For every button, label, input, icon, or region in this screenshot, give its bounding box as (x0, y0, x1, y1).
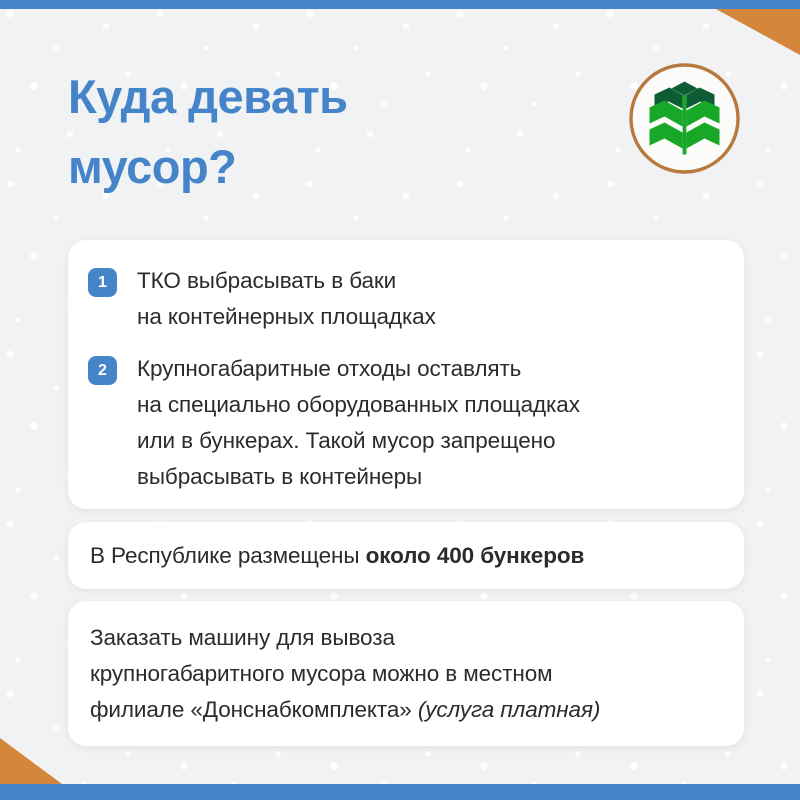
list-item: 2 Крупногабаритные отходы оставлять на с… (88, 351, 580, 495)
fact-card: В Республике размещены около 400 бункеро… (68, 522, 744, 589)
step-text: Крупногабаритные отходы оставлять на спе… (137, 351, 580, 495)
infographic-poster: Куда девать мусор? 1 ТКО выбрасывать в (0, 0, 800, 800)
wheat-leaf-emblem-icon (627, 61, 742, 176)
step-text: ТКО выбрасывать в баки на контейнерных п… (137, 263, 436, 335)
order-card: Заказать машину для вывоза крупногабарит… (68, 601, 744, 746)
fact-highlight-text: около 400 бункеров (366, 543, 585, 568)
top-right-orange-triangle (716, 9, 800, 55)
page-title: Куда девать мусор? (68, 62, 588, 202)
top-blue-bar (0, 0, 800, 9)
fact-text: В Республике размещены около 400 бункеро… (90, 540, 584, 572)
step-number-badge: 1 (88, 268, 117, 297)
step-number-badge: 2 (88, 356, 117, 385)
bottom-blue-bar (0, 784, 800, 800)
list-item: 1 ТКО выбрасывать в баки на контейнерных… (88, 263, 436, 335)
fact-lead-text: В Республике размещены (90, 543, 366, 568)
order-text: Заказать машину для вывоза крупногабарит… (90, 620, 600, 728)
bottom-left-orange-triangle (0, 738, 62, 784)
steps-card: 1 ТКО выбрасывать в баки на контейнерных… (68, 240, 744, 509)
order-note-text: (услуга платная) (418, 697, 600, 722)
